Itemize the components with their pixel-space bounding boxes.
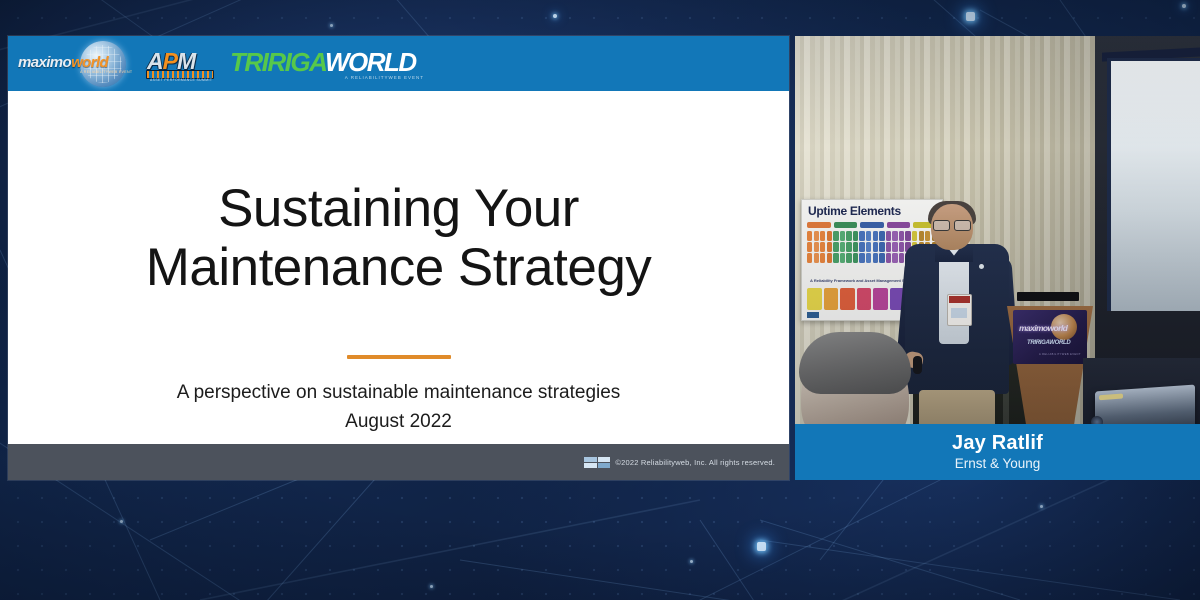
slide-title-line-2: Maintenance Strategy — [8, 238, 789, 297]
tririgaworld-logo-text: TRIRIGAWORLD — [230, 47, 416, 78]
speaker-organization: Ernst & Young — [955, 455, 1041, 473]
screen-stage: maximoworld A RELIABILITYWEB EVENT APM A… — [0, 0, 1200, 600]
reliabilityweb-mark-icon — [584, 457, 610, 468]
tririgaworld-logo-text-a: TRIRIGA — [230, 47, 325, 77]
maximoworld-logo-text: maximoworld — [18, 54, 108, 71]
title-divider-rule — [347, 355, 451, 359]
video-color-grade-overlay — [795, 36, 1200, 480]
maximoworld-logo-subtext: A RELIABILITYWEB EVENT — [80, 70, 132, 74]
apm-logo-subtext: ASSET PERFORMANCE SUMMIT — [150, 78, 212, 82]
maximoworld-logo: maximoworld A RELIABILITYWEB EVENT — [16, 40, 134, 88]
speaker-video-panel[interactable]: Uptime Elements — [795, 36, 1200, 480]
speaker-name: Jay Ratlif — [952, 432, 1043, 454]
slide-body: Sustaining Your Maintenance Strategy A p… — [8, 91, 789, 444]
copyright-text: ©2022 Reliabilityweb, Inc. All rights re… — [615, 458, 775, 467]
maximoworld-logo-text-a: maximo — [18, 54, 71, 71]
tririgaworld-logo-subtext: A RELIABILITYWEB EVENT — [345, 75, 424, 80]
slide-title-line-1: Sustaining Your — [8, 179, 789, 238]
slide-subtitle: A perspective on sustainable maintenance… — [8, 379, 789, 436]
slide-footer-bar: ©2022 Reliabilityweb, Inc. All rights re… — [8, 444, 789, 480]
speaker-name-banner: Jay Ratlif Ernst & Young — [795, 424, 1200, 480]
maximoworld-logo-text-b: world — [71, 54, 108, 71]
slide-header-bar: maximoworld A RELIABILITYWEB EVENT APM A… — [8, 36, 789, 91]
tririgaworld-logo: TRIRIGAWORLD A RELIABILITYWEB EVENT — [230, 43, 430, 85]
presentation-slide[interactable]: maximoworld A RELIABILITYWEB EVENT APM A… — [8, 36, 789, 480]
slide-subtitle-line-1: A perspective on sustainable maintenance… — [8, 379, 789, 408]
tririgaworld-logo-text-b: WORLD — [325, 47, 416, 77]
slide-title: Sustaining Your Maintenance Strategy — [8, 179, 789, 298]
apm-logo: APM ASSET PERFORMANCE SUMMIT — [144, 43, 216, 85]
slide-subtitle-date: August 2022 — [8, 408, 789, 437]
